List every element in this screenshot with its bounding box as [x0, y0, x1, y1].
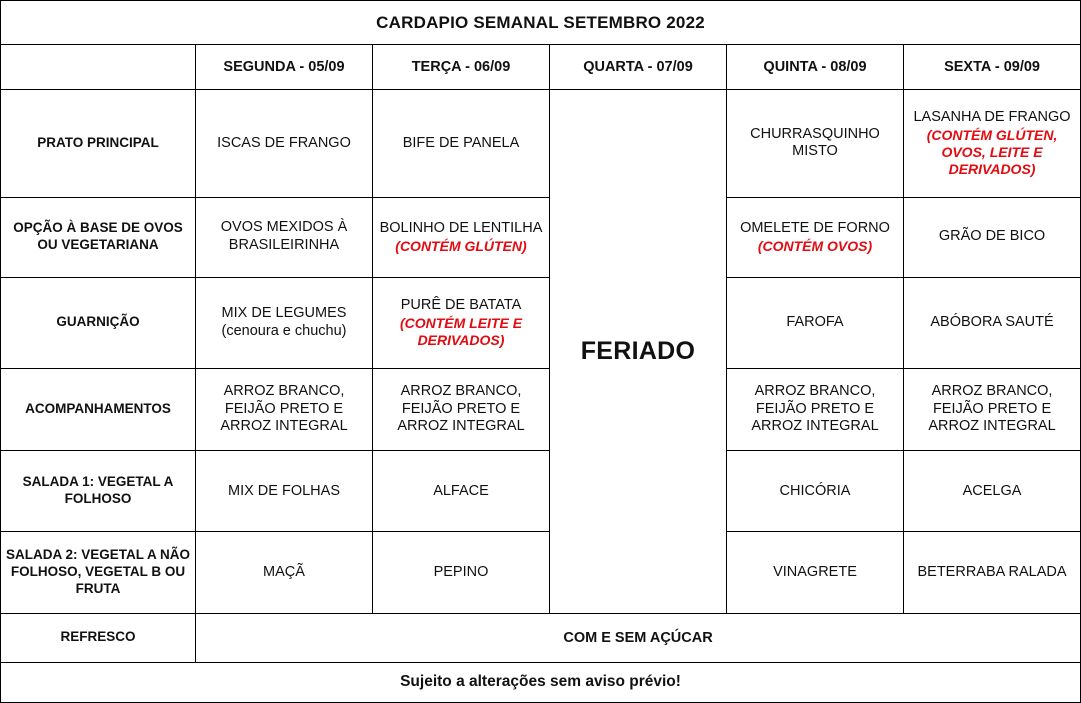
row-label-refresco: REFRESCO: [1, 613, 196, 662]
dish-name: CHURRASQUINHO MISTO: [750, 126, 880, 160]
cell-salada2-segunda: MAÇÃ: [196, 532, 373, 613]
weekly-menu-table: CARDAPIO SEMANAL SETEMBRO 2022 SEGUNDA -…: [0, 0, 1081, 703]
cell-opcao-segunda: OVOS MEXIDOS À BRASILEIRINHA: [196, 197, 373, 277]
cell-salada1-segunda: MIX DE FOLHAS: [196, 451, 373, 532]
day-header-quarta: QUARTA - 07/09: [550, 45, 727, 90]
dish-name: BETERRABA RALADA: [917, 564, 1066, 580]
footer-row: Sujeito a alterações sem aviso prévio!: [1, 662, 1081, 702]
cell-acompanhamentos-sexta: ARROZ BRANCO, FEIJÃO PRETO E ARROZ INTEG…: [904, 369, 1081, 451]
dish-name: MAÇÃ: [263, 564, 305, 580]
cell-prato-segunda: ISCAS DE FRANGO: [196, 90, 373, 197]
dish-name: MIX DE FOLHAS: [228, 483, 340, 499]
dish-name: CHICÓRIA: [780, 483, 851, 499]
cell-guarnicao-sexta: ABÓBORA SAUTÉ: [904, 277, 1081, 368]
dish-name: ARROZ BRANCO, FEIJÃO PRETO E ARROZ INTEG…: [220, 383, 347, 434]
cell-salada1-quinta: CHICÓRIA: [727, 451, 904, 532]
dish-name: MIX DE LEGUMES: [222, 305, 347, 321]
cell-guarnicao-segunda: MIX DE LEGUMES (cenoura e chuchu): [196, 277, 373, 368]
dish-name: PURÊ DE BATATA: [401, 297, 522, 313]
footer-note: Sujeito a alterações sem aviso prévio!: [1, 662, 1081, 702]
dish-name: LASANHA DE FRANGO: [913, 109, 1070, 125]
cell-prato-quinta: CHURRASQUINHO MISTO: [727, 90, 904, 197]
table-row: GUARNIÇÃO MIX DE LEGUMES (cenoura e chuc…: [1, 277, 1081, 368]
table-row: PRATO PRINCIPAL ISCAS DE FRANGO BIFE DE …: [1, 90, 1081, 197]
table-row: OPÇÃO À BASE DE OVOS OU VEGETARIANA OVOS…: [1, 197, 1081, 277]
dish-name: GRÃO DE BICO: [939, 228, 1045, 244]
row-label-prato-principal: PRATO PRINCIPAL: [1, 90, 196, 197]
cell-prato-sexta: LASANHA DE FRANGO (CONTÉM GLÚTEN, OVOS, …: [904, 90, 1081, 197]
cell-salada2-sexta: BETERRABA RALADA: [904, 532, 1081, 613]
dish-name: OVOS MEXIDOS À BRASILEIRINHA: [221, 219, 348, 253]
dish-name: ARROZ BRANCO, FEIJÃO PRETO E ARROZ INTEG…: [751, 383, 878, 434]
day-header-terca: TERÇA - 06/09: [373, 45, 550, 90]
dish-detail: (cenoura e chuchu): [200, 323, 368, 341]
dish-name: BIFE DE PANELA: [403, 135, 520, 151]
dish-name: ABÓBORA SAUTÉ: [930, 314, 1053, 330]
allergen-note: (CONTÉM LEITE E DERIVADOS): [377, 315, 545, 349]
allergen-note: (CONTÉM GLÚTEN): [377, 238, 545, 255]
cell-salada2-terca: PEPINO: [373, 532, 550, 613]
cell-salada1-sexta: ACELGA: [904, 451, 1081, 532]
dish-name: FAROFA: [786, 314, 843, 330]
cell-prato-terca: BIFE DE PANELA: [373, 90, 550, 197]
allergen-note: (CONTÉM GLÚTEN, OVOS, LEITE E DERIVADOS): [908, 127, 1076, 177]
dish-name: ISCAS DE FRANGO: [217, 135, 351, 151]
cell-opcao-quinta: OMELETE DE FORNO (CONTÉM OVOS): [727, 197, 904, 277]
dish-name: ARROZ BRANCO, FEIJÃO PRETO E ARROZ INTEG…: [397, 383, 524, 434]
cell-opcao-terca: BOLINHO DE LENTILHA (CONTÉM GLÚTEN): [373, 197, 550, 277]
title-row: CARDAPIO SEMANAL SETEMBRO 2022: [1, 1, 1081, 45]
cell-guarnicao-quinta: FAROFA: [727, 277, 904, 368]
row-label-guarnicao: GUARNIÇÃO: [1, 277, 196, 368]
dish-name: ACELGA: [963, 483, 1022, 499]
dish-name: ARROZ BRANCO, FEIJÃO PRETO E ARROZ INTEG…: [928, 383, 1055, 434]
menu-page: CARDAPIO SEMANAL SETEMBRO 2022 SEGUNDA -…: [0, 0, 1081, 703]
cell-acompanhamentos-segunda: ARROZ BRANCO, FEIJÃO PRETO E ARROZ INTEG…: [196, 369, 373, 451]
allergen-note: (CONTÉM OVOS): [731, 238, 899, 255]
day-header-quinta: QUINTA - 08/09: [727, 45, 904, 90]
dish-name: VINAGRETE: [773, 564, 857, 580]
day-header-segunda: SEGUNDA - 05/09: [196, 45, 373, 90]
header-corner-cell: [1, 45, 196, 90]
row-label-salada-2: SALADA 2: VEGETAL A NÃO FOLHOSO, VEGETAL…: [1, 532, 196, 613]
dish-name: ALFACE: [433, 483, 489, 499]
cell-acompanhamentos-quinta: ARROZ BRANCO, FEIJÃO PRETO E ARROZ INTEG…: [727, 369, 904, 451]
day-header-row: SEGUNDA - 05/09 TERÇA - 06/09 QUARTA - 0…: [1, 45, 1081, 90]
row-label-salada-1: SALADA 1: VEGETAL A FOLHOSO: [1, 451, 196, 532]
cell-salada1-terca: ALFACE: [373, 451, 550, 532]
dish-name: BOLINHO DE LENTILHA: [380, 220, 543, 236]
row-label-opcao-ovos-vegetariana: OPÇÃO À BASE DE OVOS OU VEGETARIANA: [1, 197, 196, 277]
table-row: SALADA 2: VEGETAL A NÃO FOLHOSO, VEGETAL…: [1, 532, 1081, 613]
cell-opcao-sexta: GRÃO DE BICO: [904, 197, 1081, 277]
cell-refresco-value: COM E SEM AÇÚCAR: [196, 613, 1081, 662]
cell-salada2-quinta: VINAGRETE: [727, 532, 904, 613]
cell-guarnicao-terca: PURÊ DE BATATA (CONTÉM LEITE E DERIVADOS…: [373, 277, 550, 368]
table-row: ACOMPANHAMENTOS ARROZ BRANCO, FEIJÃO PRE…: [1, 369, 1081, 451]
table-row: REFRESCO COM E SEM AÇÚCAR: [1, 613, 1081, 662]
day-header-sexta: SEXTA - 09/09: [904, 45, 1081, 90]
dish-name: PEPINO: [434, 564, 489, 580]
holiday-cell: FERIADO: [550, 90, 727, 613]
dish-name: OMELETE DE FORNO: [740, 220, 890, 236]
row-label-acompanhamentos: ACOMPANHAMENTOS: [1, 369, 196, 451]
page-title: CARDAPIO SEMANAL SETEMBRO 2022: [1, 1, 1081, 45]
table-row: SALADA 1: VEGETAL A FOLHOSO MIX DE FOLHA…: [1, 451, 1081, 532]
cell-acompanhamentos-terca: ARROZ BRANCO, FEIJÃO PRETO E ARROZ INTEG…: [373, 369, 550, 451]
